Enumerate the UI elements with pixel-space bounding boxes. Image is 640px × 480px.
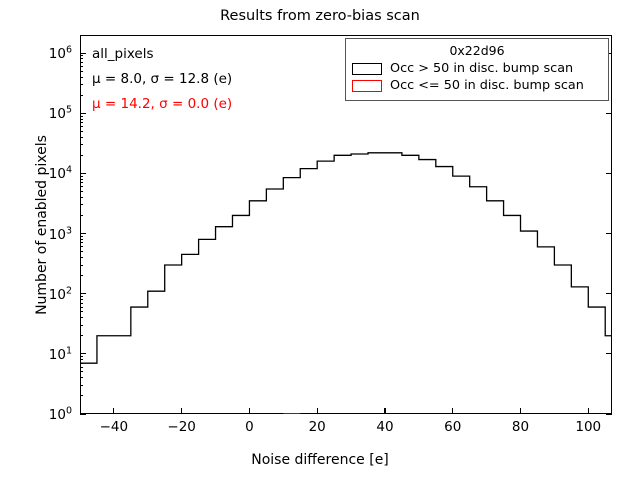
x-axis-label: Noise difference [e]	[0, 452, 640, 468]
annotation-dataset-label: all_pixels	[92, 46, 154, 62]
legend-item-occ-gt-50: Occ > 50 in disc. bump scan	[352, 61, 602, 76]
x-tick-label: 60	[444, 419, 461, 435]
legend: 0x22d96 Occ > 50 in disc. bump scan Occ …	[345, 38, 609, 101]
legend-label-occ-gt-50: Occ > 50 in disc. bump scan	[390, 61, 573, 76]
x-tick-label: 20	[309, 419, 326, 435]
x-tick-label: −20	[167, 419, 196, 435]
legend-swatch-black-icon	[352, 63, 382, 75]
annotation-black-stats: μ = 8.0, σ = 12.8 (e)	[92, 71, 232, 87]
x-tick-label: 80	[512, 419, 529, 435]
x-tick-major	[520, 408, 521, 414]
x-tick-major	[384, 408, 385, 414]
x-tick-major	[452, 408, 453, 414]
x-tick-label: 40	[376, 419, 393, 435]
legend-item-occ-le-50: Occ <= 50 in disc. bump scan	[352, 78, 602, 93]
x-tick-label: 100	[575, 419, 601, 435]
figure: Results from zero-bias scan Number of en…	[0, 0, 640, 480]
legend-swatch-red-icon	[352, 80, 382, 92]
annotation-red-stats: μ = 14.2, σ = 0.0 (e)	[92, 96, 232, 112]
legend-title: 0x22d96	[352, 43, 602, 58]
x-tick-label: 0	[245, 419, 254, 435]
x-tick-major	[588, 408, 589, 414]
x-tick-major	[181, 408, 182, 414]
legend-label-occ-le-50: Occ <= 50 in disc. bump scan	[390, 78, 584, 93]
x-tick-major	[249, 408, 250, 414]
x-tick-label: −40	[100, 419, 129, 435]
x-tick-major	[317, 408, 318, 414]
x-tick-major	[113, 408, 114, 414]
